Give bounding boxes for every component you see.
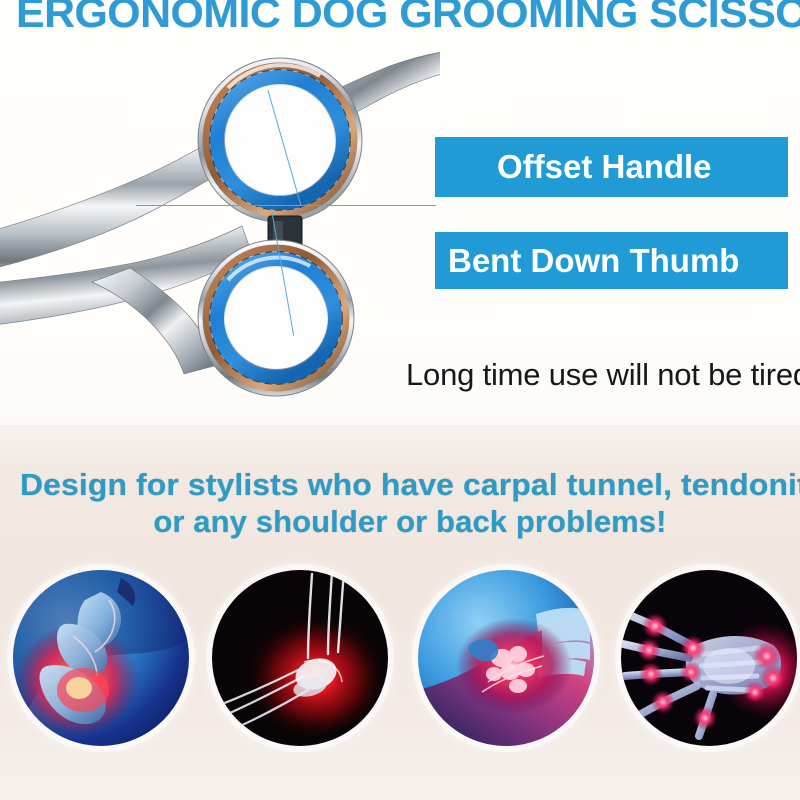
tagline-text: Long time use will not be tired — [406, 357, 800, 393]
condition-image-hand-skeleton-arthritis — [621, 570, 797, 746]
promo-text-line-1: Design for stylists who have carpal tunn… — [20, 467, 800, 503]
product-infographic: ERGONOMIC DOG GROOMING SCISSORS — [0, 0, 800, 800]
promo-text-line-2: or any shoulder or back problems! — [0, 504, 800, 540]
scissors-product-image — [0, 30, 440, 400]
condition-image-elbow-joint-pain — [212, 570, 388, 746]
condition-image-wrist-xray-pain — [418, 570, 594, 746]
bottom-section: Design for stylists who have carpal tunn… — [0, 425, 800, 800]
feature-banner-offset-handle: Offset Handle — [435, 137, 788, 197]
feature-banner-bent-down-thumb: Bent Down Thumb — [435, 232, 788, 289]
guide-line-horizontal — [136, 205, 436, 206]
top-section: ERGONOMIC DOG GROOMING SCISSORS — [0, 0, 800, 432]
condition-image-shoulder-joint-pain — [13, 570, 189, 746]
